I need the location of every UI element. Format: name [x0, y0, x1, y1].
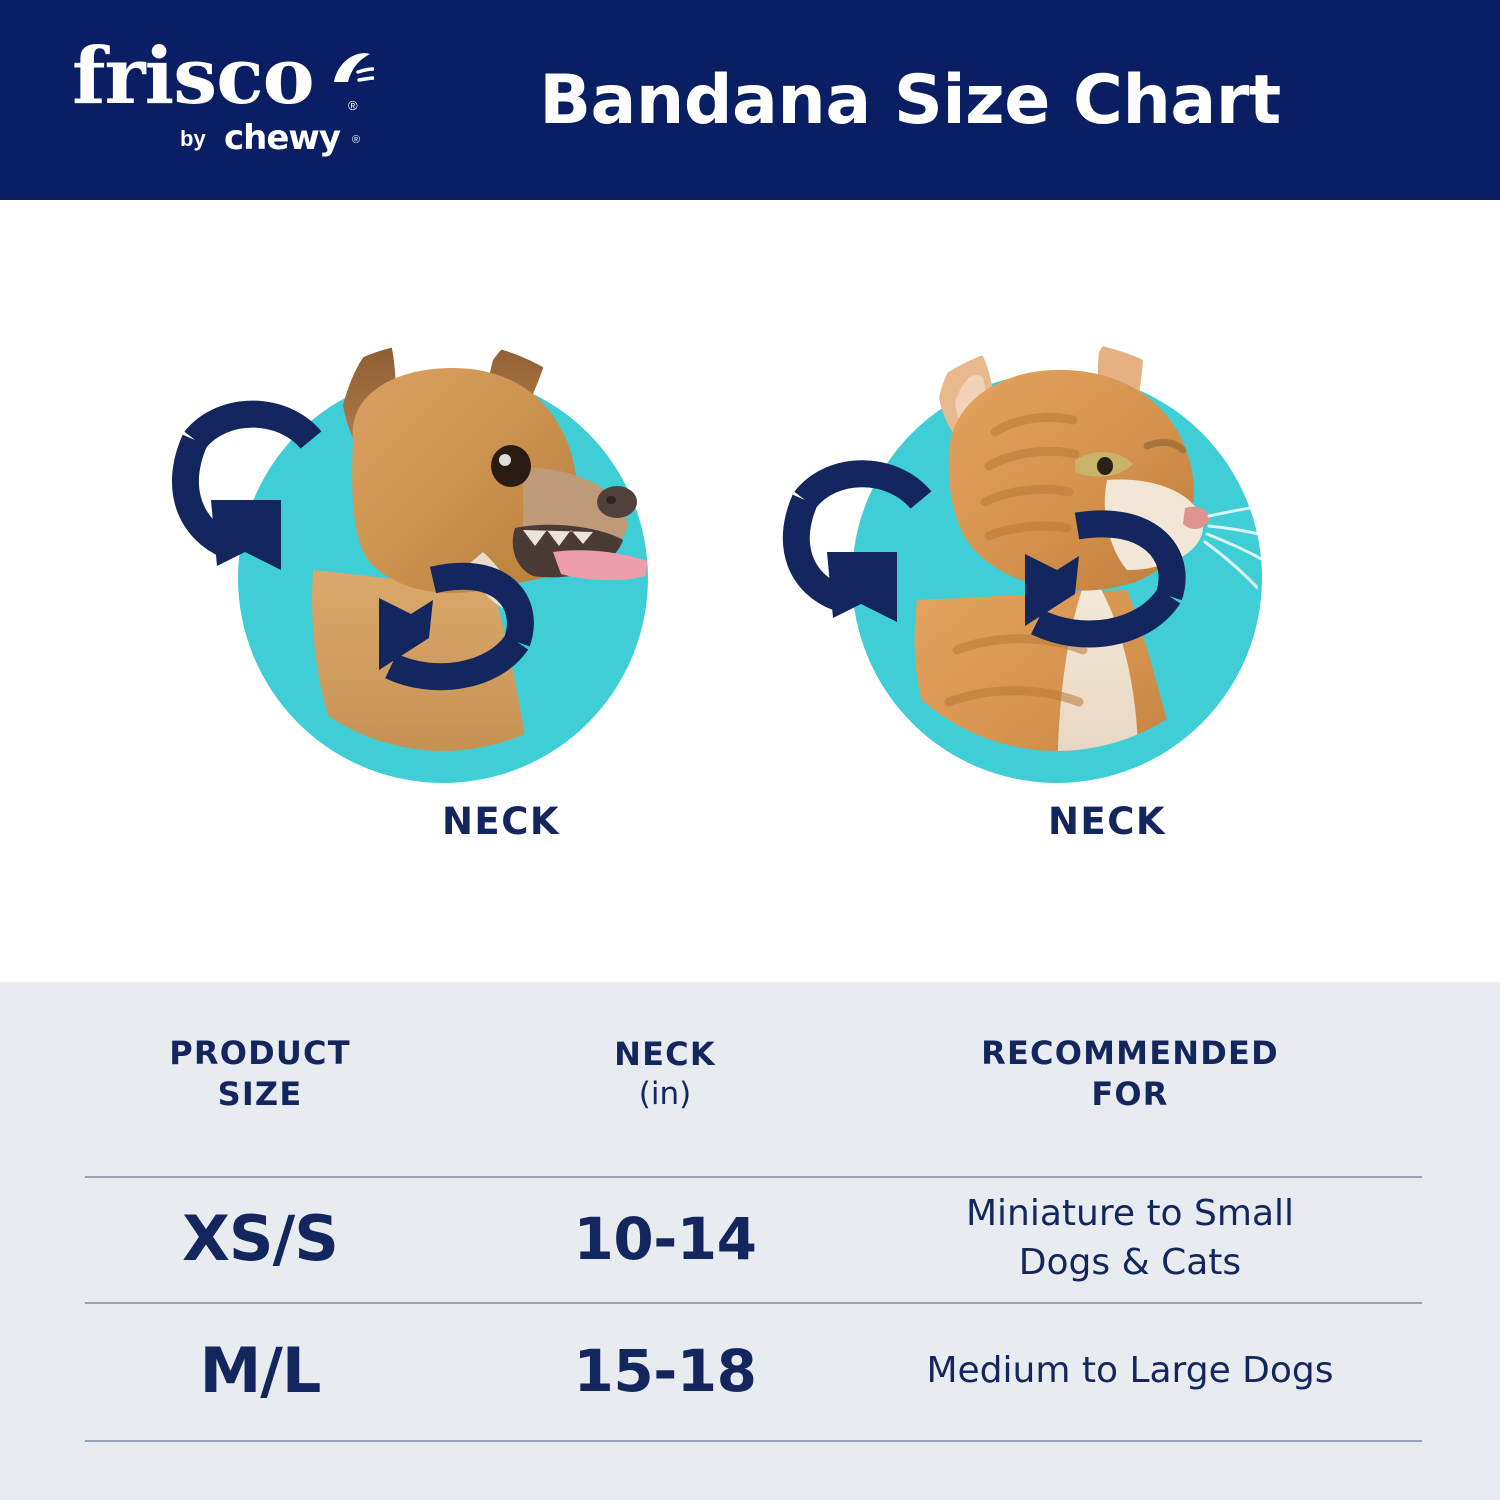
table-row: XS/S 10-14 Miniature to Small Dogs & Cat… — [0, 1176, 1500, 1302]
brand-by-label: by — [180, 126, 206, 152]
brand-name-chewy: chewy — [224, 118, 340, 158]
registered-mark-icon: ® — [348, 98, 358, 113]
wrap-around-arrow-icon — [133, 200, 753, 820]
column-header-line1: NECK — [614, 1034, 716, 1075]
table-divider — [85, 1440, 1422, 1442]
size-table: PRODUCT SIZE NECK (in) RECOMMENDED FOR X… — [0, 982, 1500, 1500]
neck-value: 10-14 — [574, 1210, 757, 1268]
pet-illustration-area: NECK — [0, 200, 1500, 982]
column-header-unit: (in) — [639, 1075, 691, 1115]
recommended-line2: Dogs & Cats — [1019, 1239, 1241, 1288]
header-band: frisco ® by chewy ® Bandana Size Chart — [0, 0, 1500, 200]
product-size-value: M/L — [200, 1340, 321, 1402]
dog-neck-label: NECK — [191, 800, 811, 843]
cat-illustration-block: NECK — [747, 200, 1367, 880]
cell-recommended-for: Miniature to Small Dogs & Cats — [830, 1190, 1430, 1287]
table-header-row: PRODUCT SIZE NECK (in) RECOMMENDED FOR — [0, 1014, 1500, 1134]
chewy-registered-mark-icon: ® — [352, 134, 360, 146]
cell-product-size: XS/S — [20, 1208, 500, 1270]
size-chart-page: frisco ® by chewy ® Bandana Size Chart — [0, 0, 1500, 1500]
column-header-line1: RECOMMENDED — [981, 1033, 1279, 1074]
column-header-recommended-for: RECOMMENDED FOR — [830, 1033, 1430, 1115]
column-header-product-size: PRODUCT SIZE — [20, 1033, 500, 1115]
tail-swoosh-icon — [328, 48, 374, 92]
page-title: Bandana Size Chart — [380, 0, 1500, 200]
column-header-neck: NECK (in) — [500, 1034, 830, 1115]
wrap-around-arrow-icon — [747, 200, 1367, 820]
frisco-by-chewy-logo: frisco ® by chewy ® — [72, 38, 372, 166]
cat-neck-label: NECK — [797, 800, 1417, 843]
column-header-line2: FOR — [1091, 1074, 1168, 1115]
recommended-line1: Miniature to Small — [966, 1190, 1294, 1239]
recommended-line1: Medium to Large Dogs — [926, 1347, 1333, 1396]
cell-recommended-for: Medium to Large Dogs — [830, 1347, 1430, 1396]
cell-product-size: M/L — [20, 1340, 500, 1402]
cell-neck: 10-14 — [500, 1210, 830, 1268]
brand-name-frisco: frisco — [72, 38, 314, 116]
cell-neck: 15-18 — [500, 1342, 830, 1400]
dog-illustration-block: NECK — [133, 200, 753, 880]
table-row: M/L 15-18 Medium to Large Dogs — [0, 1302, 1500, 1440]
neck-value: 15-18 — [574, 1342, 757, 1400]
column-header-line2: SIZE — [218, 1074, 303, 1115]
column-header-line1: PRODUCT — [169, 1033, 351, 1074]
product-size-value: XS/S — [182, 1208, 338, 1270]
